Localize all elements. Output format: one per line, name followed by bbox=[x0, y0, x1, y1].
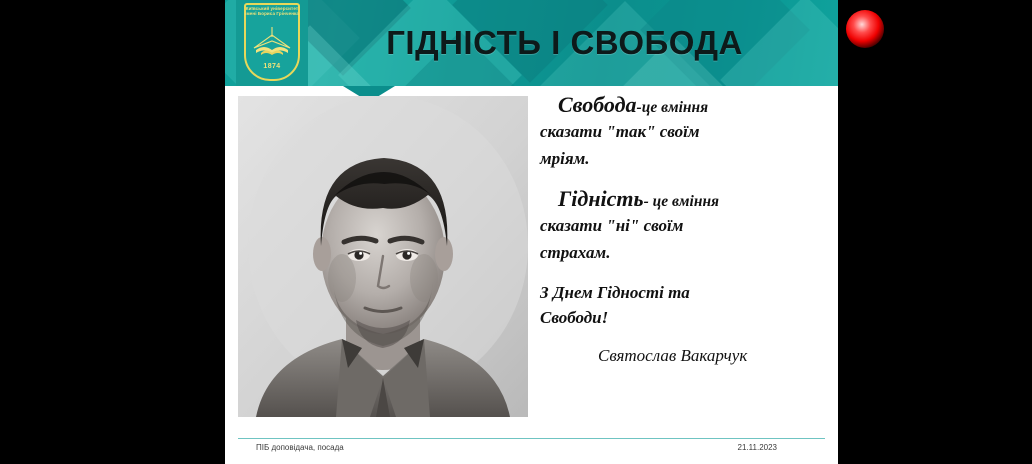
letterbox-bar-left bbox=[0, 0, 225, 464]
quote-lead-word: Гідність bbox=[540, 186, 644, 211]
footer-divider bbox=[238, 438, 825, 439]
slide-title: ГІДНІСТЬ І СВОБОДА bbox=[225, 0, 838, 86]
quote-first-line: Гідність- це вміння bbox=[540, 186, 828, 212]
quote-line: страхам. bbox=[540, 239, 828, 266]
quote-line: сказати "ні" своїм bbox=[540, 212, 828, 239]
quote-line: мріям. bbox=[540, 145, 828, 172]
slide-footer: ПІБ доповідача, посада 21.11.2023 bbox=[238, 443, 825, 452]
crest-book-icon bbox=[250, 26, 294, 56]
footer-presenter-label: ПІБ доповідача, посада bbox=[238, 443, 344, 452]
quote-lead-rest: -це вміння bbox=[637, 99, 709, 116]
slide-canvas: ГІДНІСТЬ І СВОБОДА Київський університет… bbox=[225, 0, 838, 464]
portrait-photo bbox=[238, 96, 528, 417]
quote-block-freedom: Свобода-це вміння сказати "так" своїм мр… bbox=[540, 92, 828, 172]
letterbox-bar-right bbox=[838, 0, 1032, 464]
university-crest: Київський університет імені Бориса Грінч… bbox=[236, 0, 308, 86]
quote-line: сказати "так" своїм bbox=[540, 118, 828, 145]
quote-text-column: Свобода-це вміння сказати "так" своїм мр… bbox=[540, 92, 828, 366]
presentation-viewer: ГІДНІСТЬ І СВОБОДА Київський університет… bbox=[0, 0, 1032, 464]
greeting-line: З Днем Гідності та bbox=[540, 280, 828, 305]
footer-date-label: 21.11.2023 bbox=[738, 443, 825, 452]
recording-led-icon bbox=[846, 10, 884, 48]
greeting-text: З Днем Гідності та Свободи! bbox=[540, 280, 828, 330]
quote-lead-rest: - це вміння bbox=[644, 193, 719, 210]
quote-block-dignity: Гідність- це вміння сказати "ні" своїм с… bbox=[540, 186, 828, 266]
quote-first-line: Свобода-це вміння bbox=[540, 92, 828, 118]
quote-attribution: Святослав Вакарчук bbox=[540, 346, 828, 366]
slide-header-band: ГІДНІСТЬ І СВОБОДА bbox=[225, 0, 838, 86]
greeting-line: Свободи! bbox=[540, 305, 828, 330]
quote-lead-word: Свобода bbox=[540, 92, 637, 117]
crest-institution-label: Київський університет імені Бориса Грінч… bbox=[245, 6, 299, 17]
crest-year-label: 1874 bbox=[245, 63, 299, 70]
